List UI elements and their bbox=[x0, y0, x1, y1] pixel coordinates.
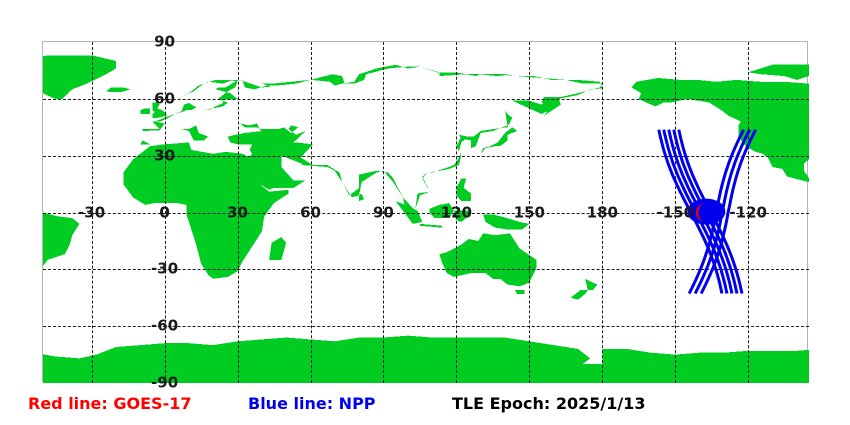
lat-tick-60: 60 bbox=[154, 91, 175, 106]
legend-tle-epoch: TLE Epoch: 2025/1/13 bbox=[452, 396, 645, 412]
lon-tick-60: 60 bbox=[300, 205, 321, 220]
lat-tick-90: 90 bbox=[154, 35, 175, 50]
legend-bar: Red line: GOES-17 Blue line: NPP TLE Epo… bbox=[0, 392, 850, 422]
map-plot-area: -300306090120150180-150-1209060300-30-60… bbox=[42, 41, 808, 382]
lon-tick--120: -120 bbox=[729, 205, 767, 220]
lat-tick--90: -90 bbox=[151, 376, 178, 391]
lon-tick--30: -30 bbox=[78, 205, 105, 220]
lon-tick-180: 180 bbox=[587, 205, 618, 220]
satellite-ground-track-map: -300306090120150180-150-1209060300-30-60… bbox=[0, 0, 850, 425]
lat-tick--30: -30 bbox=[151, 262, 178, 277]
lon-tick-150: 150 bbox=[514, 205, 545, 220]
gridline-latitude bbox=[43, 213, 809, 214]
lon-tick-90: 90 bbox=[373, 205, 394, 220]
legend-red-line: Red line: GOES-17 bbox=[28, 396, 191, 412]
lon-tick-30: 30 bbox=[227, 205, 248, 220]
lat-tick-30: 30 bbox=[154, 148, 175, 163]
legend-blue-line: Blue line: NPP bbox=[248, 396, 376, 412]
lat-tick-0: 0 bbox=[159, 205, 169, 220]
lon-tick-120: 120 bbox=[441, 205, 472, 220]
lon-tick--150: -150 bbox=[657, 205, 695, 220]
lat-tick--60: -60 bbox=[151, 319, 178, 334]
